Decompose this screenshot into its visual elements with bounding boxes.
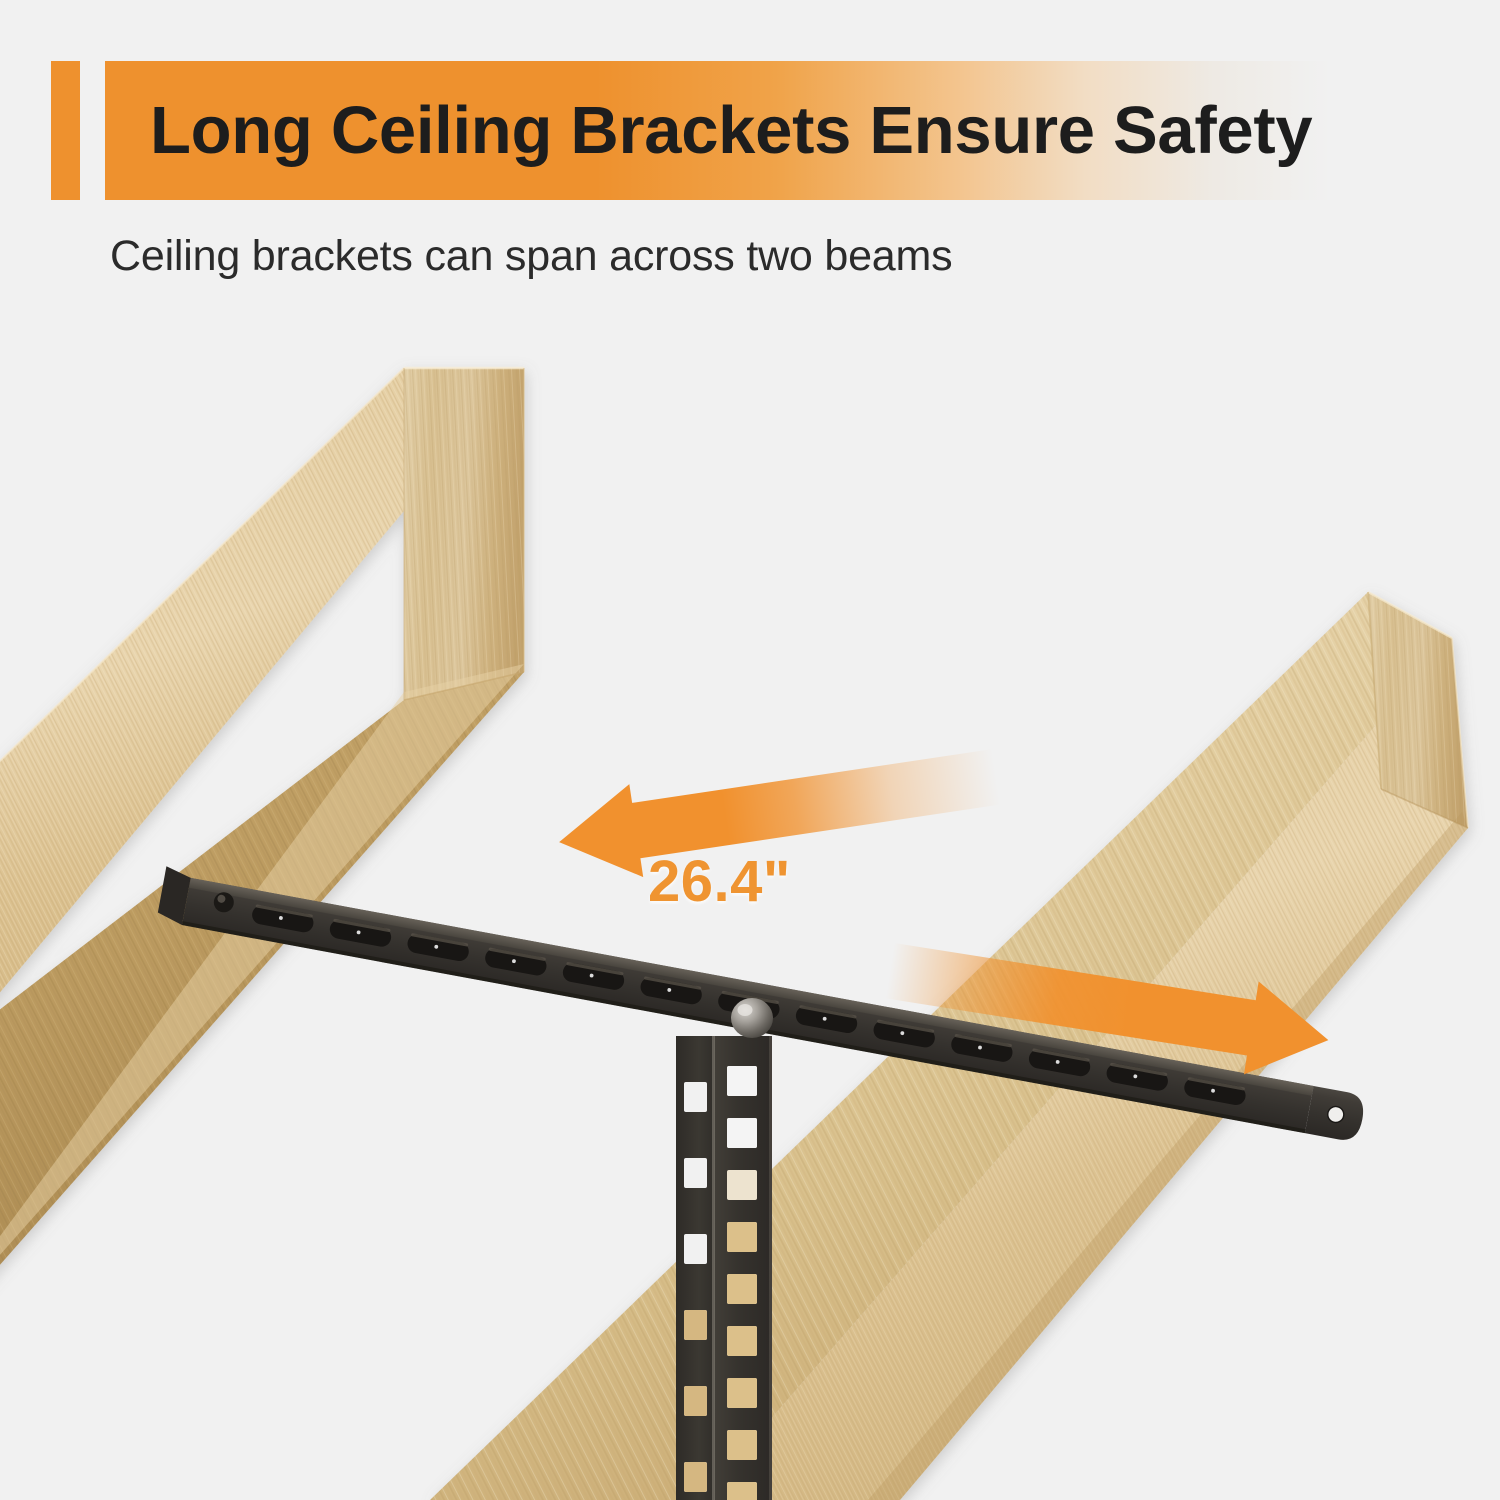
dimension-label: 26.4" (648, 848, 791, 915)
product-illustration (0, 0, 1500, 1500)
header: Long Ceiling Brackets Ensure Safety Ceil… (0, 0, 1500, 215)
page-subtitle: Ceiling brackets can span across two bea… (110, 232, 952, 281)
accent-bar (51, 61, 80, 200)
product-infographic: Long Ceiling Brackets Ensure Safety Ceil… (0, 0, 1500, 1500)
dome-bolt (731, 998, 773, 1038)
page-title: Long Ceiling Brackets Ensure Safety (150, 64, 1480, 197)
vertical-post (676, 1036, 772, 1500)
